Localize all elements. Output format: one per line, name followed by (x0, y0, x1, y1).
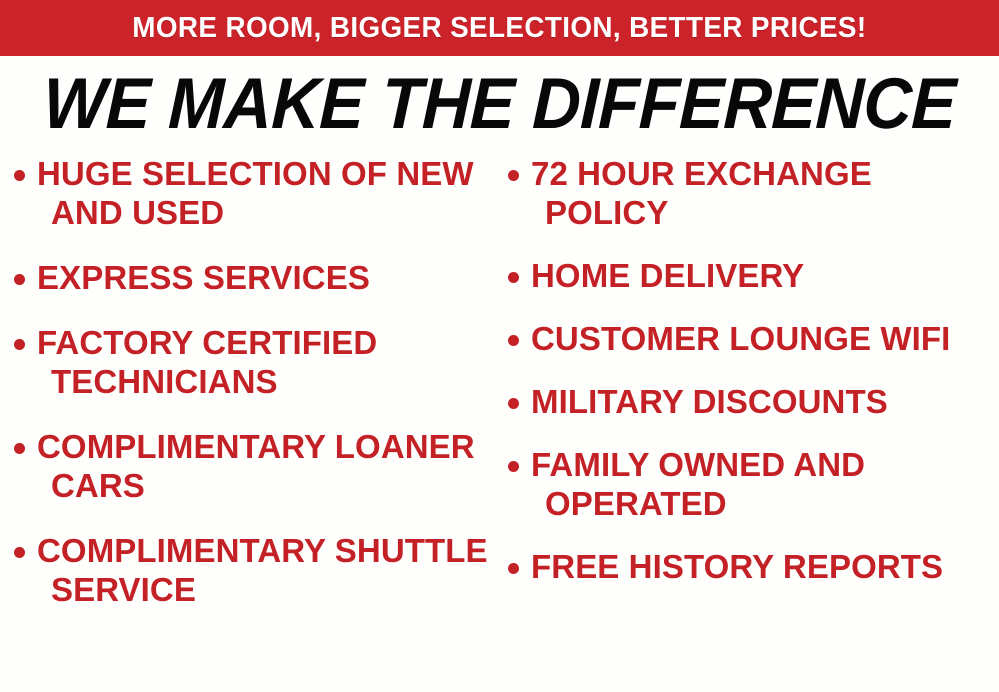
list-item-label: FAMILY OWNED AND OPERATED (531, 446, 999, 524)
list-item: CUSTOMER LOUNGE WIFI (508, 320, 999, 359)
list-item-label: FREE HISTORY REPORTS (531, 548, 999, 587)
headline-container: WE MAKE THE DIFFERENCE (0, 63, 999, 145)
bullet-dot-icon (508, 461, 519, 472)
list-item: FAMILY OWNED AND OPERATED (508, 446, 999, 524)
bullet-dot-icon (14, 339, 25, 350)
promo-banner-text: MORE ROOM, BIGGER SELECTION, BETTER PRIC… (132, 14, 866, 43)
list-item-label: COMPLIMENTARY LOANER CARS (37, 428, 506, 506)
list-item-label: 72 HOUR EXCHANGE POLICY (531, 155, 999, 233)
list-item: COMPLIMENTARY LOANER CARS (14, 428, 506, 506)
bullet-dot-icon (508, 272, 519, 283)
bullet-dot-icon (14, 274, 25, 285)
list-item-label: HOME DELIVERY (531, 257, 999, 296)
promo-banner: MORE ROOM, BIGGER SELECTION, BETTER PRIC… (0, 0, 999, 56)
list-item: FREE HISTORY REPORTS (508, 548, 999, 587)
bullet-dot-icon (508, 563, 519, 574)
list-item: MILITARY DISCOUNTS (508, 383, 999, 422)
list-item-label: COMPLIMENTARY SHUTTLE SERVICE (37, 532, 506, 610)
list-item-label: EXPRESS SERVICES (37, 259, 506, 298)
bullet-dot-icon (508, 398, 519, 409)
feature-column-right: 72 HOUR EXCHANGE POLICY HOME DELIVERY CU… (508, 155, 999, 611)
bullet-dot-icon (508, 335, 519, 346)
list-item-label: MILITARY DISCOUNTS (531, 383, 999, 422)
bullet-dot-icon (14, 547, 25, 558)
list-item: EXPRESS SERVICES (14, 259, 506, 298)
list-item: COMPLIMENTARY SHUTTLE SERVICE (14, 532, 506, 610)
list-item-label: FACTORY CERTIFIED TECHNICIANS (37, 324, 506, 402)
list-item: FACTORY CERTIFIED TECHNICIANS (14, 324, 506, 402)
list-item: HOME DELIVERY (508, 257, 999, 296)
bullet-dot-icon (508, 170, 519, 181)
list-item-label: HUGE SELECTION OF NEW AND USED (37, 155, 506, 233)
bullet-dot-icon (14, 443, 25, 454)
feature-column-left: HUGE SELECTION OF NEW AND USED EXPRESS S… (14, 155, 506, 635)
bullet-dot-icon (14, 170, 25, 181)
list-item-label: CUSTOMER LOUNGE WIFI (531, 320, 999, 359)
list-item: HUGE SELECTION OF NEW AND USED (14, 155, 506, 233)
feature-columns: HUGE SELECTION OF NEW AND USED EXPRESS S… (0, 155, 999, 692)
page-title: WE MAKE THE DIFFERENCE (42, 68, 957, 140)
list-item: 72 HOUR EXCHANGE POLICY (508, 155, 999, 233)
